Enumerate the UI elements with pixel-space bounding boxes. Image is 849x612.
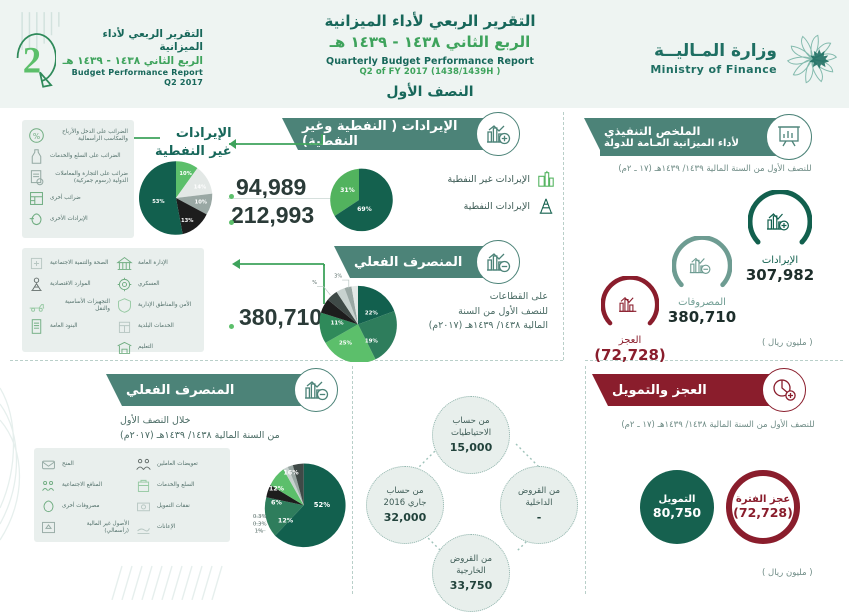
deficit-financing-ribbon-title: العجز والتمويل [608,383,766,398]
exp-sub-line1: على القطاعات [398,290,548,305]
actual-expenditure-panel: تعويضات العاملين السلع والخدمات نفقات ال… [34,448,230,542]
main-title-ar: التقرير الربعي لأداء الميزانية [300,12,560,32]
bar-chart-minus-icon [303,377,329,403]
arrow-to-revenues-icon [220,130,326,154]
sector-label: العسكري [138,281,160,288]
executive-summary-unit: ( مليون ريال ) [762,338,813,348]
deficit-financing-note: للنصف الأول من السنة المالية ١٤٣٨/ ١٤٣٩ه… [608,420,828,430]
flow-node-label-2: الاحتياطيات [451,428,491,439]
act-sub-line2: من السنة المالية ١٤٣٨/ ١٤٣٩هـ (٢٠١٧م) [120,429,320,444]
breakdown-item: ضرائب على التجارة والمعاملات الدولية (رس… [28,169,128,186]
stat-deficit-label: العجز [578,335,682,346]
actual-expenditure-badge [294,368,338,412]
breakdown-label: ضرائب على التجارة والمعاملات الدولية (رس… [50,171,128,185]
revenues-ribbon: الإيرادات ( النفطية وغير النفطية) [298,118,504,150]
nonoil-breakdown-panel: الضرائب على الدخل والأرباح والمكاسب الرأ… [22,120,134,238]
breakdown-item: الضرائب على السلع والخدمات [28,148,128,165]
svg-text:53%: 53% [152,199,165,205]
security-icon [116,297,133,314]
deficit-circle: عجز الفترة (72,728) [726,470,800,544]
shield-gear-icon [116,276,133,293]
infographic-page: التقرير الربعي لأداء الميزانية الربع الث… [0,0,849,600]
svg-text:14%: 14% [194,184,207,190]
expenditure-sectors-subtitle: على القطاعات للنصف الأول من السنة المالي… [398,290,548,334]
expense-item: تعويضات العاملين [135,456,224,473]
expense-label: المنافع الاجتماعية [62,482,102,489]
breakdown-label: الضرائب على الدخل والأرباح والمكاسب الرأ… [50,129,128,143]
actual-expenditure-subtitle: خلال النصف الأول من السنة المالية ١٤٣٨/ … [120,414,320,443]
expense-item: السلع والخدمات [135,477,224,494]
expense-label: السلع والخدمات [157,482,194,489]
expenditure-sectors-badge [476,240,520,284]
flow-node-label: من حساب [386,486,423,497]
expense-label: مصروفات أخرى [62,503,100,510]
legend-label-nonoil: الإيرادات غير النفطية [448,174,530,185]
arc-revenues [748,190,812,254]
flow-node-external-loans: من القروض الخارجية 33,750 [432,534,510,612]
actual-expenditure-pie-chart: 52% 16% 12% 6% 12% 0.3% 0.3% 1% [236,458,346,558]
sector-label: الإدارة العامة [138,260,168,267]
stat-deficit: العجز (72,728) [578,276,682,364]
breakdown-label: ضرائب أخرى [50,195,81,202]
ministry-logo: وزارة المـاليــة Ministry of Finance [629,28,839,90]
expense-item: نفقات التمويل [135,498,224,515]
expense-label: نفقات التمويل [157,503,190,510]
bottle-icon [28,148,45,165]
svg-text:3%: 3% [334,274,342,280]
ministry-name-en: Ministry of Finance [650,63,777,78]
money-pouch-icon [28,211,45,228]
svg-text:31%: 31% [340,187,355,194]
divider-vertical-3 [352,366,353,594]
svg-text:3%: 3% [312,280,317,286]
executive-summary-ribbon: الملخص التنفيذي لأداء الميزانية العـامة … [600,118,780,156]
content-area: الإيرادات ( النفطية وغير النفطية) 94,989… [0,108,849,600]
stat-deficit-value: (72,728) [578,346,682,364]
calculator-icon [28,190,45,207]
revenues-badge [476,112,520,156]
flow-node-value: 15,000 [450,441,492,454]
city-buildings-icon [537,170,555,188]
expense-item: مصروفات أخرى [40,498,129,515]
svg-text:10%: 10% [179,171,192,177]
breakdown-item: الإيرادات الأخرى [28,211,128,228]
transport-icon [28,297,45,314]
svg-text:16%: 16% [283,469,299,476]
pie-chart-plus-icon [771,377,797,403]
nonfinancial-assets-icon [40,519,57,536]
report-badge-logo: التقرير الربعي لأداء الميزانية الربع الث… [8,18,203,98]
government-building-icon [116,255,133,272]
svg-text:12%: 12% [269,486,285,493]
sector-item: الموارد الاقتصادية [28,276,110,293]
exp-sub-line3: المالية ١٤٣٨/ ١٤٣٩هـ (٢٠١٧م) [398,319,548,334]
divider-horizontal-1 [10,360,563,361]
breakdown-item: الضرائب على الدخل والأرباح والمكاسب الرأ… [28,127,128,144]
sector-label: الموارد الاقتصادية [50,281,91,288]
goods-icon [135,477,152,494]
exp-sub-line2: للنصف الأول من السنة [398,305,548,320]
flow-node-value: 32,000 [384,511,426,524]
sector-item: الأمن والمناطق الإدارية [116,297,198,314]
svg-text:10%: 10% [195,200,208,206]
financing-value: 80,750 [653,505,701,520]
breakdown-label: الإيرادات الأخرى [50,216,88,223]
oil-revenue-value: 212,993 [231,202,314,229]
flow-node-label-2: جاري 2016 [384,498,427,509]
expense-label: الإعانات [157,524,175,531]
ministry-name-ar: وزارة المـاليــة [650,40,777,63]
revenues-pie-chart: 31% 69% [325,166,393,234]
flow-node-current-account: من حساب جاري 2016 32,000 [366,466,444,544]
exec-title-line1: الملخص التنفيذي [604,124,766,138]
executive-summary-badge [766,114,812,160]
sector-label: الخدمات البلدية [138,323,174,330]
page-header: التقرير الربعي لأداء الميزانية الربع الث… [0,0,849,108]
nonoil-revenue-value: 94,989 [236,174,306,201]
executive-summary-ribbon-title: الملخص التنفيذي لأداء الميزانية العـامة … [600,124,766,151]
breakdown-label: الضرائب على السلع والخدمات [50,153,121,160]
bar-chart-minus-icon [485,249,511,275]
svg-text:1%: 1% [255,529,264,535]
expenditure-sectors-pie-chart: 22% 19% 25% 11% 3% 3% [312,270,404,362]
deficit-financing-badge [762,368,806,412]
flow-node-reserves: من حساب الاحتياطيات 15,000 [432,396,510,474]
expense-item: المنافع الاجتماعية [40,477,129,494]
main-title-en: Quarterly Budget Performance Report [300,56,560,67]
svg-text:69%: 69% [357,206,372,213]
deficit-financing-ribbon: العجز والتمويل [608,374,780,406]
svg-text:25%: 25% [339,340,353,346]
svg-text:19%: 19% [365,339,379,345]
expenditure-bullet [229,324,234,329]
municipal-icon [116,318,133,335]
stat-deficit-arc [601,276,659,334]
expense-label: تعويضات العاملين [157,461,198,468]
revenue-value-separator [228,198,340,199]
expenditure-sectors-ribbon-title: المنصرف الفعلي [350,255,490,270]
expenditure-sectors-panel: الإدارة العامة العسكري الأمن والمناطق ال… [22,248,204,352]
school-icon [116,339,133,356]
economy-icon [28,276,45,293]
decorative-lines-left-icon [0,378,26,568]
nonoil-pie-chart: 10% 14% 10% 13% 53% [136,158,216,238]
flow-node-label-2: الداخلية [526,498,553,509]
expense-label: الأصول غير المالية (رأسمالي) [62,521,129,535]
financing-circle: التمويل 80,750 [640,470,714,544]
svg-text:22%: 22% [365,310,379,316]
legend-label-oil: الإيرادات النفطية [464,201,530,212]
svg-text:11%: 11% [331,320,345,326]
ministry-emblem-icon [785,32,839,86]
decorative-lines-bottom-icon [108,546,228,600]
deficit-financing-unit: ( مليون ريال ) [762,568,813,578]
general-items-icon [28,318,45,335]
grants-icon [40,456,57,473]
bar-chart-plus-icon [485,121,511,147]
q2-mark-icon: 2 [8,22,56,94]
revenue-bullet-1 [229,194,234,199]
document-clock-icon [28,169,45,186]
revenue-bullet-2 [229,220,234,225]
svg-text:0.3%: 0.3% [253,521,267,527]
sector-item: التجهيزات الأساسية والنقل [28,297,110,314]
svg-text:0.3%: 0.3% [253,514,267,520]
financing-label: التمويل [659,494,696,505]
badge-title-en: Budget Performance Report Q2 2017 [60,68,203,88]
divider-vertical-1 [563,112,564,360]
svg-text:6%: 6% [271,499,282,506]
flow-node-label: من القروض [450,554,492,565]
expense-item: الأصول غير المالية (رأسمالي) [40,519,129,536]
actual-expenditure-ribbon-title: المنصرف الفعلي [122,383,306,398]
sector-label: التعليم [138,344,153,351]
sector-item: التعليم [116,339,198,356]
expense-item: الإعانات [135,519,224,536]
sector-label: الأمن والمناطق الإدارية [138,302,191,309]
svg-text:%: % [33,132,40,141]
sector-item: البنود العامة [28,318,110,335]
badge-period-ar: الربع الثاني ١٤٣٨ - ١٤٣٩ هـ [60,55,203,68]
flow-node-label-2: الخارجية [456,566,486,577]
sector-label: التجهيزات الأساسية والنقل [50,299,110,313]
sector-item: الخدمات البلدية [116,318,198,335]
act-sub-line1: خلال النصف الأول [120,414,320,429]
flow-node-label: من حساب [452,416,489,427]
health-icon [28,255,45,272]
exec-title-line2: لأداء الميزانية العـامة للدولة [604,138,766,151]
svg-text:2: 2 [23,39,41,80]
main-subtitle: النصف الأول [300,84,560,100]
deficit-value: (72,728) [733,505,793,520]
actual-expenditure-ribbon: المنصرف الفعلي [122,374,320,406]
social-benefits-icon [40,477,57,494]
badge-title-ar: التقرير الربعي لأداء الميزانية [60,28,203,54]
sector-item: الصحة والتنمية الاجتماعية [28,255,110,272]
breakdown-item: ضرائب أخرى [28,190,128,207]
subsidies-icon [135,519,152,536]
expense-item: المنح [40,456,129,473]
sector-label: الصحة والتنمية الاجتماعية [50,260,108,267]
revenues-ribbon-title: الإيرادات ( النفطية وغير النفطية) [298,119,490,149]
revenues-legend: الإيرادات غير النفطية الإيرادات النفطية [400,170,555,224]
legend-item-nonoil: الإيرادات غير النفطية [400,170,555,188]
presentation-board-icon [775,123,803,151]
svg-text:13%: 13% [181,218,194,224]
flow-node-value: 33,750 [450,579,492,592]
svg-text:52%: 52% [314,501,330,509]
header-title-block: التقرير الربعي لأداء الميزانية الربع الث… [300,12,560,100]
flow-node-domestic-loans: من القروض الداخلية - [500,466,578,544]
main-period-ar: الربع الثاني ١٤٣٨ - ١٤٣٩ هـ [300,32,560,53]
finance-cost-icon [135,498,152,515]
svg-text:12%: 12% [278,518,294,525]
executive-summary-note: للنصف الأول من السنة المالية ١٤٣٩/ ١٤٣٩ه… [605,164,825,174]
legend-item-oil: الإيرادات النفطية [400,197,555,215]
deficit-label: عجز الفترة [736,494,790,505]
sector-label: البنود العامة [50,323,77,330]
sector-item: العسكري [116,276,198,293]
expense-label: المنح [62,461,74,468]
main-period-en: Q2 of FY 2017 (1438/1439H ) [300,67,560,77]
people-group-icon [135,456,152,473]
arc-deficit [601,276,659,334]
flow-node-value: - [537,511,542,524]
flow-node-label: من القروض [518,486,560,497]
oil-rig-icon [537,197,555,215]
other-expenses-icon [40,498,57,515]
sector-item: الإدارة العامة [116,255,198,272]
stat-revenues-arc [748,190,812,254]
percent-icon: % [28,127,45,144]
